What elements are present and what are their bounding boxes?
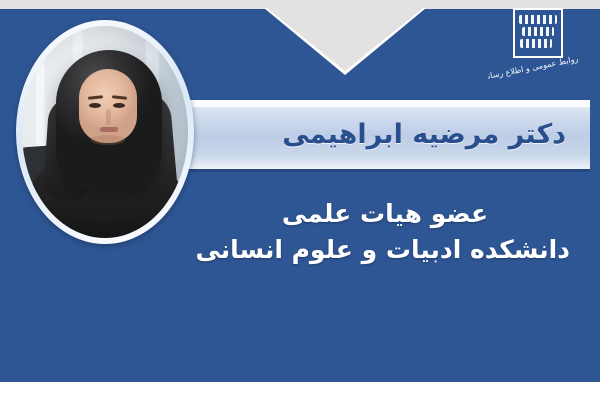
portrait-photo <box>22 26 188 238</box>
subtitle-block: عضو هیات علمی دانشکده ادبیات و علوم انسا… <box>200 196 570 267</box>
faculty-profile-card: روابط عمومی و اطلاع رسانی دکتر مرضیه ابر… <box>0 0 600 400</box>
bottom-white-strip <box>0 382 600 400</box>
portrait-image-clip <box>22 26 188 238</box>
subtitle-line-role: عضو هیات علمی <box>200 196 570 232</box>
person-name: دکتر مرضیه ابراهیمی <box>210 100 566 169</box>
university-logo: روابط عمومی و اطلاع رسانی <box>487 6 579 84</box>
logo-glyph-row-2 <box>522 27 554 36</box>
photo-vignette <box>22 26 188 238</box>
subtitle-line-faculty: دانشکده ادبیات و علوم انسانی <box>200 232 570 268</box>
portrait <box>16 20 194 244</box>
logo-glyph-row-3 <box>520 39 552 48</box>
logo-glyph-row-1 <box>519 15 557 24</box>
name-ribbon: دکتر مرضیه ابراهیمی <box>150 100 590 169</box>
